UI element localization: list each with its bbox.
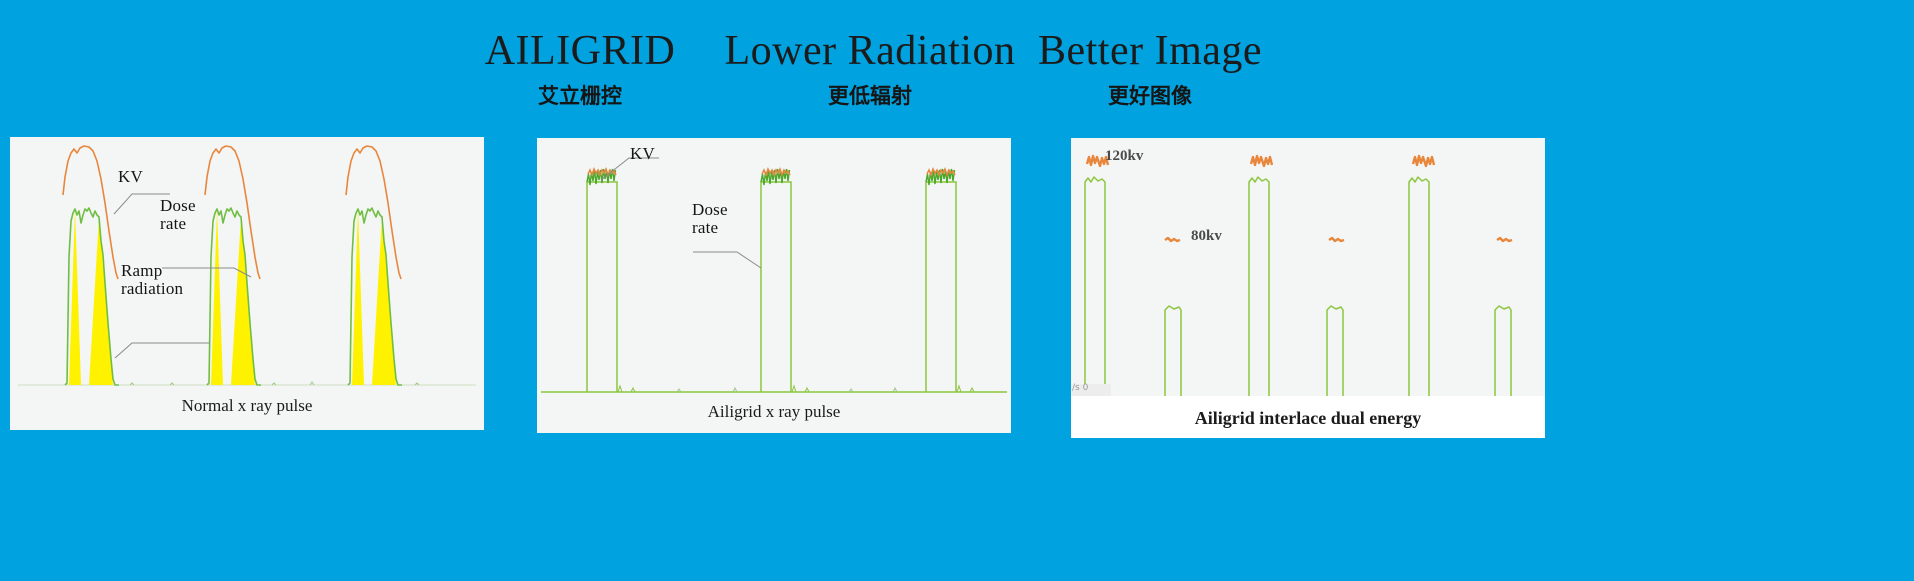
panel-normal-x-ray-pulse: KV Dose rate Ramp radiation Normal x ray… bbox=[10, 137, 484, 430]
panel-ailigrid-interlace-dual-energy: 120kv 80kv /s 0 Ailigrid interlace dual … bbox=[1071, 138, 1545, 438]
legend-label-120kv: 120kv bbox=[1105, 148, 1143, 165]
chart-normal-x-ray-pulse bbox=[10, 137, 484, 430]
annotation-kv-panel1: KV bbox=[118, 168, 143, 186]
header-title-better-image: Better Image bbox=[940, 30, 1360, 72]
annotation-ramp-radiation-panel1: Ramp radiation bbox=[121, 262, 183, 298]
annotation-dose-rate-panel2: Dose rate bbox=[692, 201, 728, 237]
caption-ailigrid-interlace-dual-energy: Ailigrid interlace dual energy bbox=[1071, 408, 1545, 429]
panel-ailigrid-x-ray-pulse: KV Dose rate Ailigrid x ray pulse bbox=[537, 138, 1011, 433]
header-group-better-image: Better Image 更好图像 bbox=[940, 30, 1360, 107]
header: AILIGRID 艾立栅控 Lower Radiation 更低辐射 Bette… bbox=[0, 0, 1914, 140]
chart-ailigrid-interlace-dual-energy bbox=[1071, 138, 1545, 438]
legend-label-80kv: 80kv bbox=[1191, 228, 1222, 245]
annotation-dose-rate-panel1: Dose rate bbox=[160, 197, 196, 233]
annotation-kv-panel2: KV bbox=[630, 145, 655, 163]
axis-tick-label: /s 0 bbox=[1072, 383, 1088, 393]
header-subtitle-better-image: 更好图像 bbox=[940, 86, 1360, 107]
caption-normal-x-ray-pulse: Normal x ray pulse bbox=[10, 396, 484, 416]
chart-ailigrid-x-ray-pulse bbox=[537, 138, 1011, 433]
caption-ailigrid-x-ray-pulse: Ailigrid x ray pulse bbox=[537, 402, 1011, 422]
